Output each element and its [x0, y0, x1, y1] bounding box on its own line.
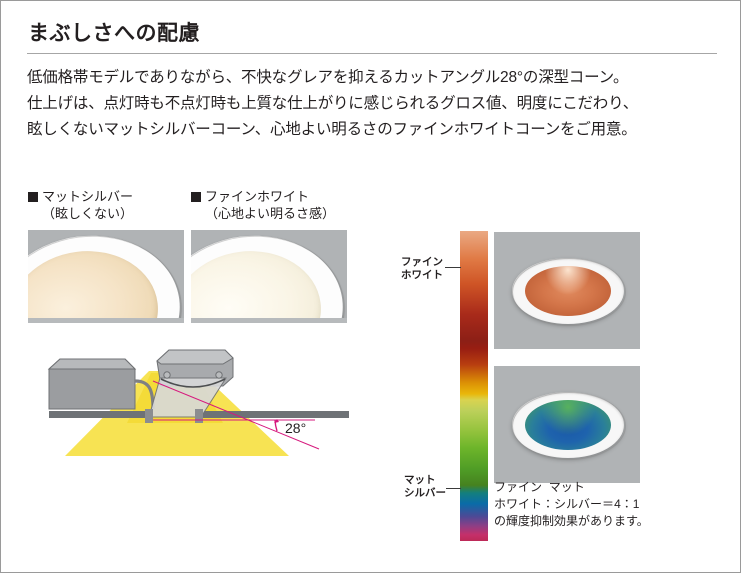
- ratio-caption-row-3: の輝度抑制効果があります。: [494, 513, 734, 530]
- page-root: まぶしさへの配慮 低価格帯モデルでありながら、不快なグレアを抑えるカットアングル…: [0, 0, 741, 573]
- cone-screw-right: [216, 372, 222, 378]
- ratio-separator: ：: [542, 497, 554, 511]
- ratio-equals: ＝: [602, 497, 614, 511]
- callout-line-2: ホワイト: [401, 269, 443, 282]
- luminance-photo-matt-silver: [494, 366, 640, 483]
- filled-square-icon: [28, 192, 38, 202]
- ratio-value: 4：1: [614, 497, 639, 511]
- swatch-label-fine-white: ファインホワイト （心地よい明るさ感）: [191, 188, 335, 222]
- luminance-core: [525, 266, 611, 316]
- ceiling-slab-left: [49, 411, 149, 418]
- photo-floor-band: [28, 318, 184, 323]
- lead-paragraph: 低価格帯モデルでありながら、不快なグレアを抑えるカットアングル28°の深型コーン…: [27, 65, 727, 143]
- page-title: まぶしさへの配慮: [28, 17, 200, 47]
- swatch-label-line-1: マットシルバー: [28, 188, 133, 205]
- ratio-term-a-line-1: ファイン: [494, 480, 542, 494]
- ratio-caption: ファイン マット ホワイト：シルバー＝4：1 の輝度抑制効果があります。: [494, 479, 734, 530]
- scale-callout-fine-white: ファイン ホワイト: [401, 256, 443, 282]
- cone-interior: [191, 243, 328, 323]
- photo-floor-band: [191, 318, 347, 323]
- ratio-term-b-line-1: マット: [549, 480, 585, 494]
- luminance-photo-fine-white: [494, 232, 640, 349]
- cone-screw-left: [164, 372, 170, 378]
- cone-interior: [28, 243, 165, 323]
- ceiling-slab-right: [199, 411, 349, 418]
- lead-line-1: 低価格帯モデルでありながら、不快なグレアを抑えるカットアングル28°の深型コーン…: [27, 65, 727, 91]
- swatch-label-line-1: ファインホワイト: [191, 188, 335, 205]
- callout-line-1: マット: [404, 474, 446, 487]
- luminance-ring: [512, 258, 624, 324]
- swatch-name: マットシルバー: [42, 189, 133, 204]
- section-diagram: 28°: [27, 331, 373, 466]
- luminance-ring: [512, 392, 624, 458]
- product-photo-fine-white: [191, 230, 347, 323]
- driver-box-top: [49, 359, 135, 369]
- cone-ring: [28, 230, 184, 323]
- callout-leader-line: [446, 488, 461, 489]
- product-photo-matt-silver: [28, 230, 184, 323]
- callout-line-1: ファイン: [401, 256, 443, 269]
- scale-callout-matt-silver: マット シルバー: [404, 474, 446, 500]
- trim-flange-right: [195, 409, 203, 423]
- callout-leader-line: [445, 267, 461, 268]
- ratio-caption-row-2: ホワイト：シルバー＝4：1: [494, 496, 734, 513]
- ratio-term-b-line-2: シルバー: [554, 497, 602, 511]
- swatch-note: （眩しくない）: [28, 205, 133, 222]
- ratio-caption-row-1: ファイン マット: [494, 479, 734, 496]
- lead-line-2: 仕上げは、点灯時も不点灯時も上質な仕上がりに感じられるグロス値、明度にこだわり、: [27, 91, 727, 117]
- lead-line-3: 眩しくないマットシルバーコーン、心地よい明るさのファインホワイトコーンをご用意。: [27, 117, 727, 143]
- fixture-housing-top: [157, 350, 233, 364]
- luminance-core: [525, 400, 611, 450]
- swatch-note: （心地よい明るさ感）: [191, 205, 335, 222]
- callout-line-2: シルバー: [404, 487, 446, 500]
- swatch-label-matt-silver: マットシルバー （眩しくない）: [28, 188, 133, 222]
- cone-ring: [191, 230, 347, 323]
- filled-square-icon: [191, 192, 201, 202]
- ratio-term-a-line-2: ホワイト: [494, 497, 542, 511]
- title-divider: [27, 53, 717, 54]
- angle-label: 28°: [285, 420, 306, 436]
- luminance-scale-bar: [460, 231, 488, 541]
- swatch-name: ファインホワイト: [205, 189, 309, 204]
- trim-flange-left: [145, 409, 153, 423]
